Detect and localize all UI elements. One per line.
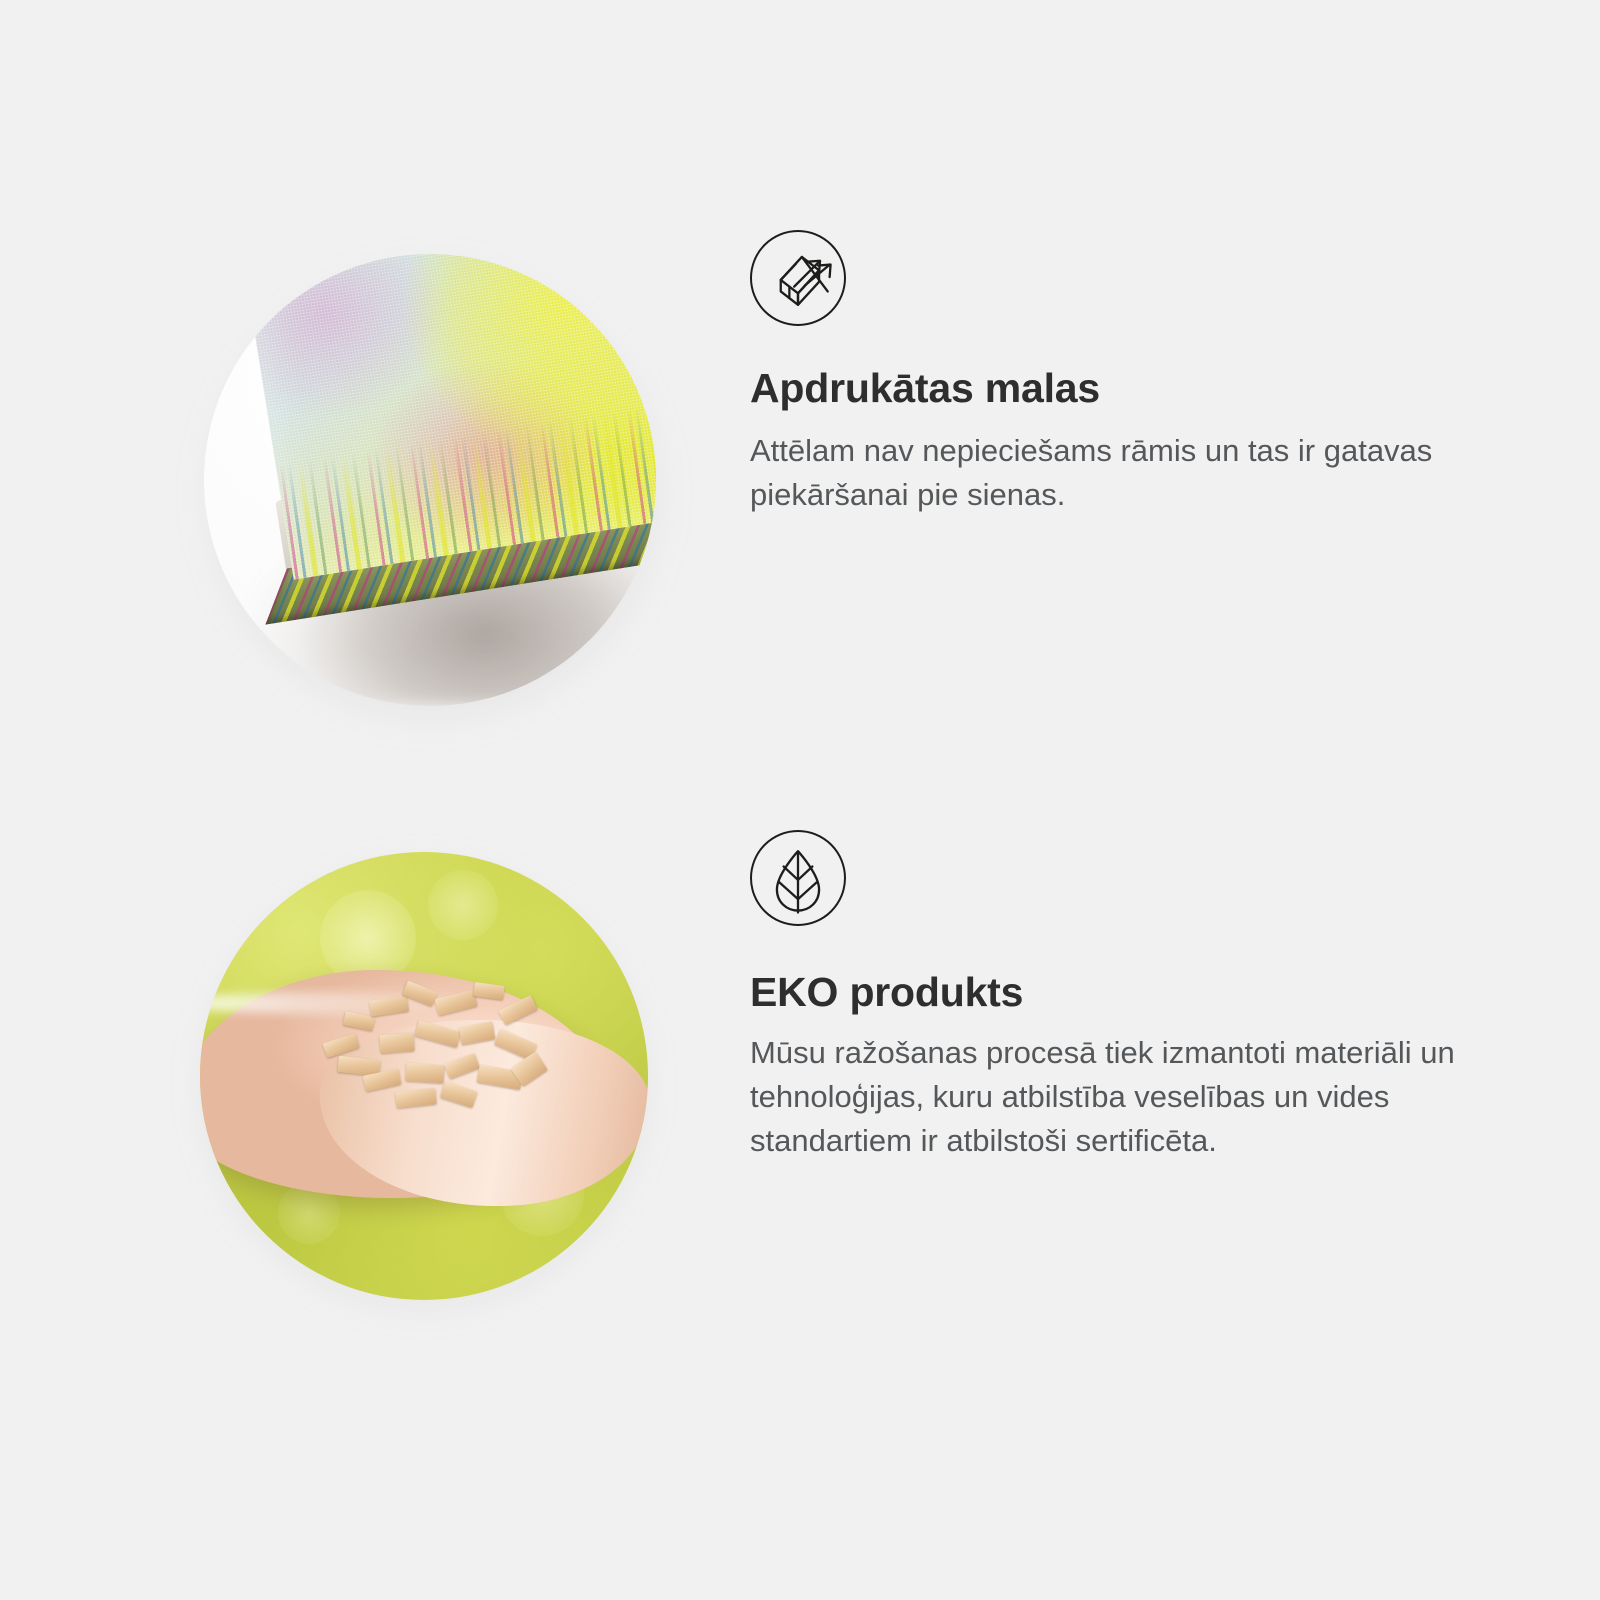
wood-chip [395, 1088, 436, 1108]
feature-list-page: Apdrukātas malas Attēlam nav nepieciešam… [0, 0, 1600, 1600]
feature-title: EKO produkts [750, 970, 1520, 1015]
canvas-clip-mask [204, 254, 656, 706]
green-circular-photo [200, 852, 648, 1300]
canvas-printed-face [242, 254, 656, 580]
wood-chip [473, 982, 505, 1000]
leaf-icon [750, 830, 846, 926]
canvas-corner-photo [180, 230, 680, 730]
wood-chip [369, 995, 409, 1016]
wood-chip [440, 1081, 478, 1108]
wood-chip [444, 1053, 480, 1079]
wood-chips-pile [318, 980, 560, 1116]
feature-block-eco-product: EKO produkts Mūsu ražošanas procesā tiek… [0, 830, 1600, 1390]
feature-description: Attēlam nav nepieciešams rāmis un tas ir… [750, 429, 1490, 517]
feature-block-printed-edges: Apdrukātas malas Attēlam nav nepieciešam… [0, 230, 1600, 790]
wood-chip [498, 995, 537, 1025]
feature-description: Mūsu ražošanas procesā tiek izmantoti ma… [750, 1031, 1490, 1163]
feature-text-eco-product: EKO produkts Mūsu ražošanas procesā tiek… [750, 830, 1520, 1163]
wood-chip [323, 1033, 360, 1058]
wood-chip [459, 1021, 496, 1045]
wood-chip [435, 989, 478, 1015]
bokeh-light [428, 870, 498, 940]
feature-title: Apdrukātas malas [750, 366, 1520, 411]
wood-chips-in-hands-photo [180, 830, 680, 1330]
wood-chip [415, 1020, 462, 1048]
wood-chip [405, 1063, 444, 1084]
canvas-block [242, 254, 656, 706]
feature-text-printed-edges: Apdrukātas malas Attēlam nav nepieciešam… [750, 230, 1520, 517]
wood-chip [379, 1033, 414, 1053]
printed-edges-icon [750, 230, 846, 326]
